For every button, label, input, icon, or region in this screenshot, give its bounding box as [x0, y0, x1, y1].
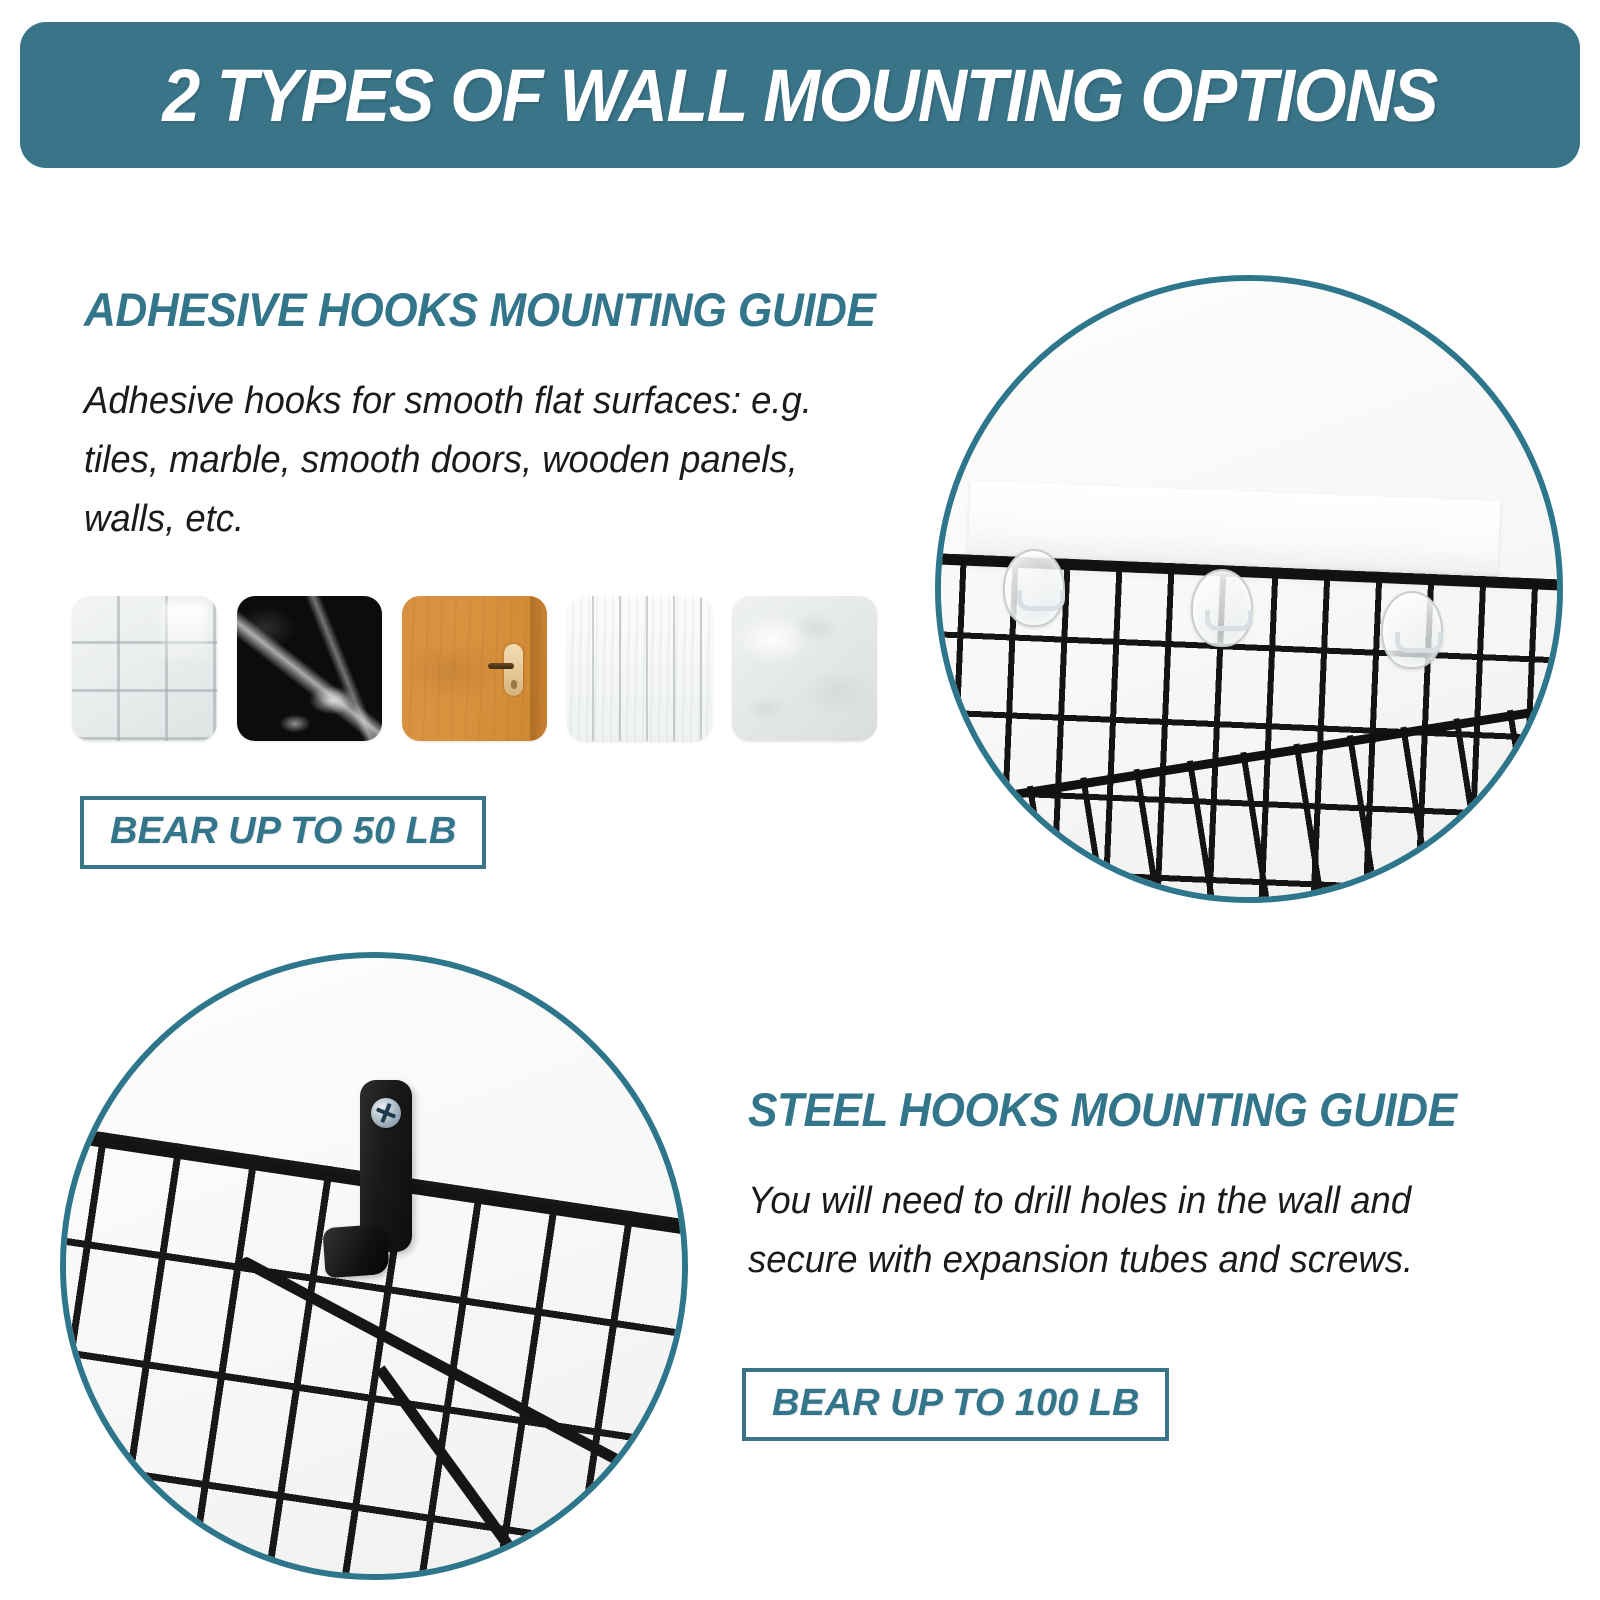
swatch-white-wood-panels	[567, 596, 712, 741]
steel-section-heading: STEEL HOOKS MOUNTING GUIDE	[748, 1082, 1457, 1137]
door-lever-icon	[488, 663, 514, 669]
screw-icon	[371, 1098, 401, 1128]
steel-capacity-badge: BEAR UP TO 100 LB	[742, 1368, 1169, 1441]
clear-adhesive-hook-3	[1381, 591, 1443, 669]
surface-swatch-row	[72, 596, 877, 741]
swatch-wooden-door	[402, 596, 547, 741]
page-title: 2 TYPES OF WALL MOUNTING OPTIONS	[163, 53, 1438, 138]
swatch-light-marble-wall	[732, 596, 877, 741]
steel-hook-clip	[322, 1224, 389, 1278]
steel-section-body: You will need to drill holes in the wall…	[748, 1172, 1458, 1290]
swatch-black-marble	[237, 596, 382, 741]
adhesive-section-heading: ADHESIVE HOOKS MOUNTING GUIDE	[84, 282, 875, 337]
adhesive-hooks-photo	[935, 275, 1563, 903]
steel-hook-photo	[60, 952, 688, 1580]
door-edge	[530, 596, 547, 741]
adhesive-capacity-badge: BEAR UP TO 50 LB	[80, 796, 486, 869]
header-banner: 2 TYPES OF WALL MOUNTING OPTIONS	[20, 22, 1580, 168]
adhesive-section-body: Adhesive hooks for smooth flat surfaces:…	[84, 372, 862, 549]
door-keyhole-icon	[511, 680, 517, 689]
clear-adhesive-hook-2	[1191, 569, 1253, 647]
clear-adhesive-hook-1	[1003, 549, 1065, 627]
swatch-white-ceramic-tiles	[72, 596, 217, 741]
infographic-page: 2 TYPES OF WALL MOUNTING OPTIONS ADHESIV…	[0, 0, 1600, 1600]
